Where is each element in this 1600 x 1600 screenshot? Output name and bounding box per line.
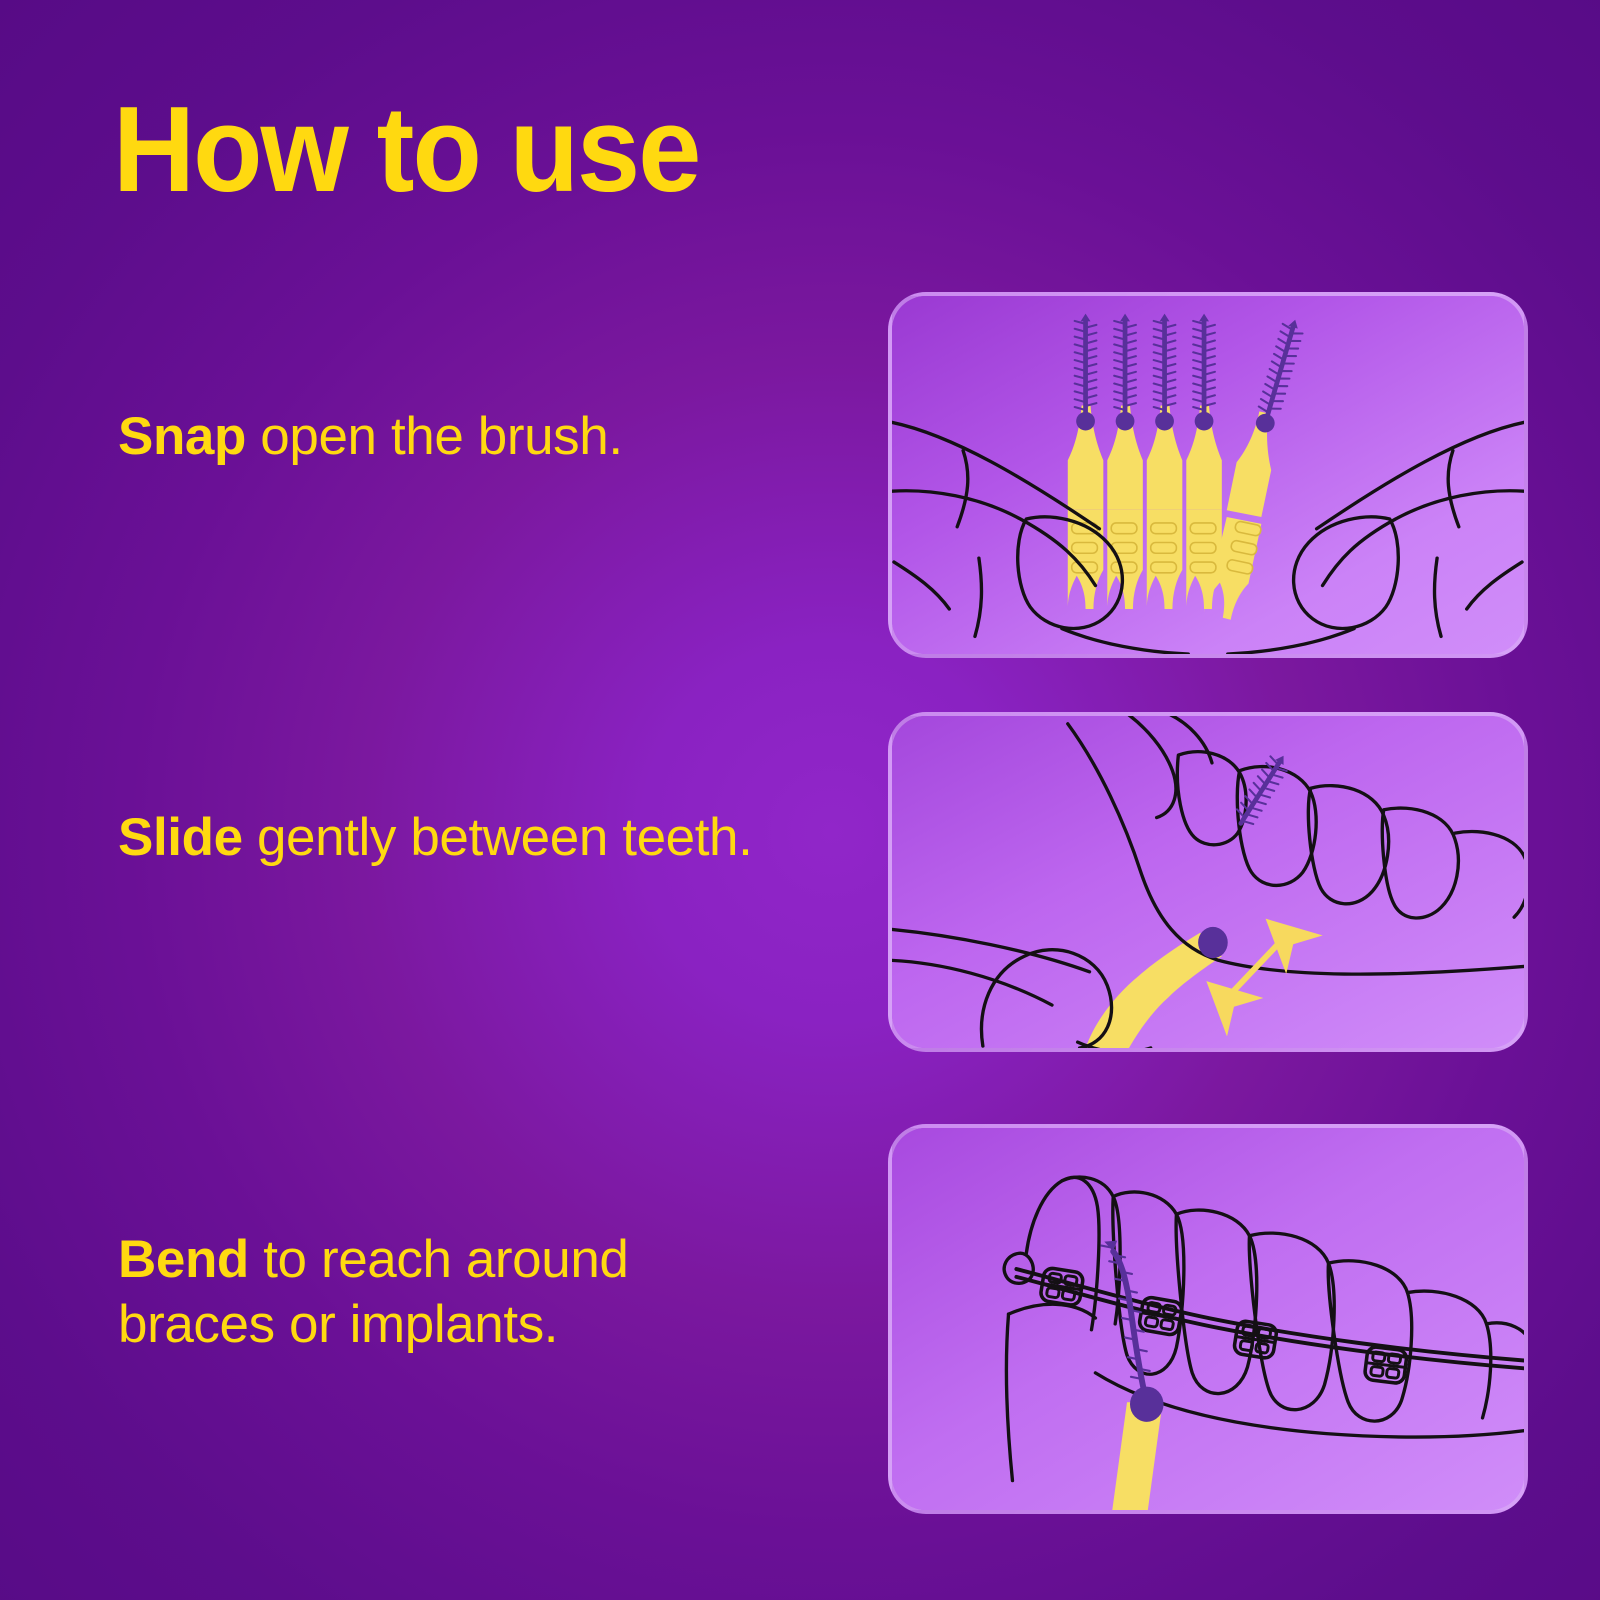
step-keyword-slide: Slide: [118, 808, 243, 867]
slide-illustration: [892, 716, 1524, 1048]
step-text-snap: Snap open the brush.: [118, 405, 758, 470]
step-text-bend: Bend to reach around braces or implants.: [118, 1228, 758, 1357]
illustration-panel-slide: [888, 712, 1528, 1052]
illustration-panel-bend: [888, 1124, 1528, 1514]
step-text-slide: Slide gently between teeth.: [118, 806, 758, 871]
illustration-panel-snap: [888, 292, 1528, 658]
snap-illustration: [892, 296, 1524, 654]
bend-illustration: [892, 1128, 1524, 1510]
page-title: How to use: [113, 88, 700, 210]
step-rest-snap: open the brush.: [246, 407, 623, 466]
step-rest-slide: gently between teeth.: [243, 808, 753, 867]
brush-collar: [1198, 927, 1228, 958]
step-keyword-snap: Snap: [118, 407, 246, 466]
step-keyword-bend: Bend: [118, 1230, 249, 1289]
poster-root: How to use Snap open the brush. Slide ge…: [0, 0, 1600, 1600]
